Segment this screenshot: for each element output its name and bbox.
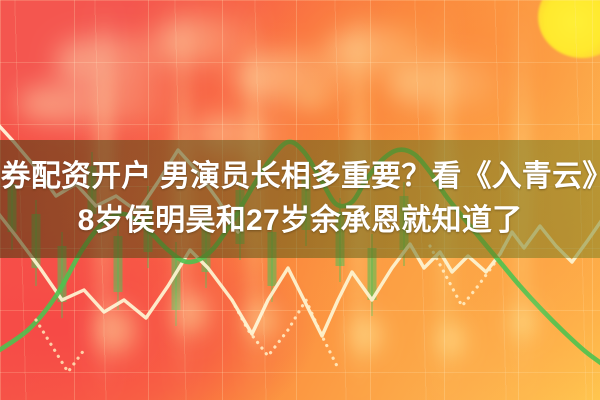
- banner-image: 证券配资开户 男演员长相多重要？看《入青云》2 8岁侯明昊和27岁余承恩就知道了: [0, 0, 600, 400]
- headline-line-1: 证券配资开户 男演员长相多重要？看《入青云》2: [0, 155, 600, 199]
- glow-blob: [510, 302, 536, 342]
- glow-blob: [348, 310, 384, 360]
- glow-blob: [92, 300, 138, 360]
- glow-blob: [244, 296, 278, 344]
- glow-blob: [436, 318, 466, 362]
- glow-blob: [158, 18, 254, 64]
- headline-text: 证券配资开户 男演员长相多重要？看《入青云》2 8岁侯明昊和27岁余承恩就知道了: [0, 140, 600, 258]
- headline-line-2: 8岁侯明昊和27岁余承恩就知道了: [78, 199, 523, 243]
- glow-blob: [172, 286, 210, 340]
- glow-blob: [20, 84, 170, 124]
- glow-blob: [300, 88, 322, 108]
- glow-blob: [390, 60, 500, 106]
